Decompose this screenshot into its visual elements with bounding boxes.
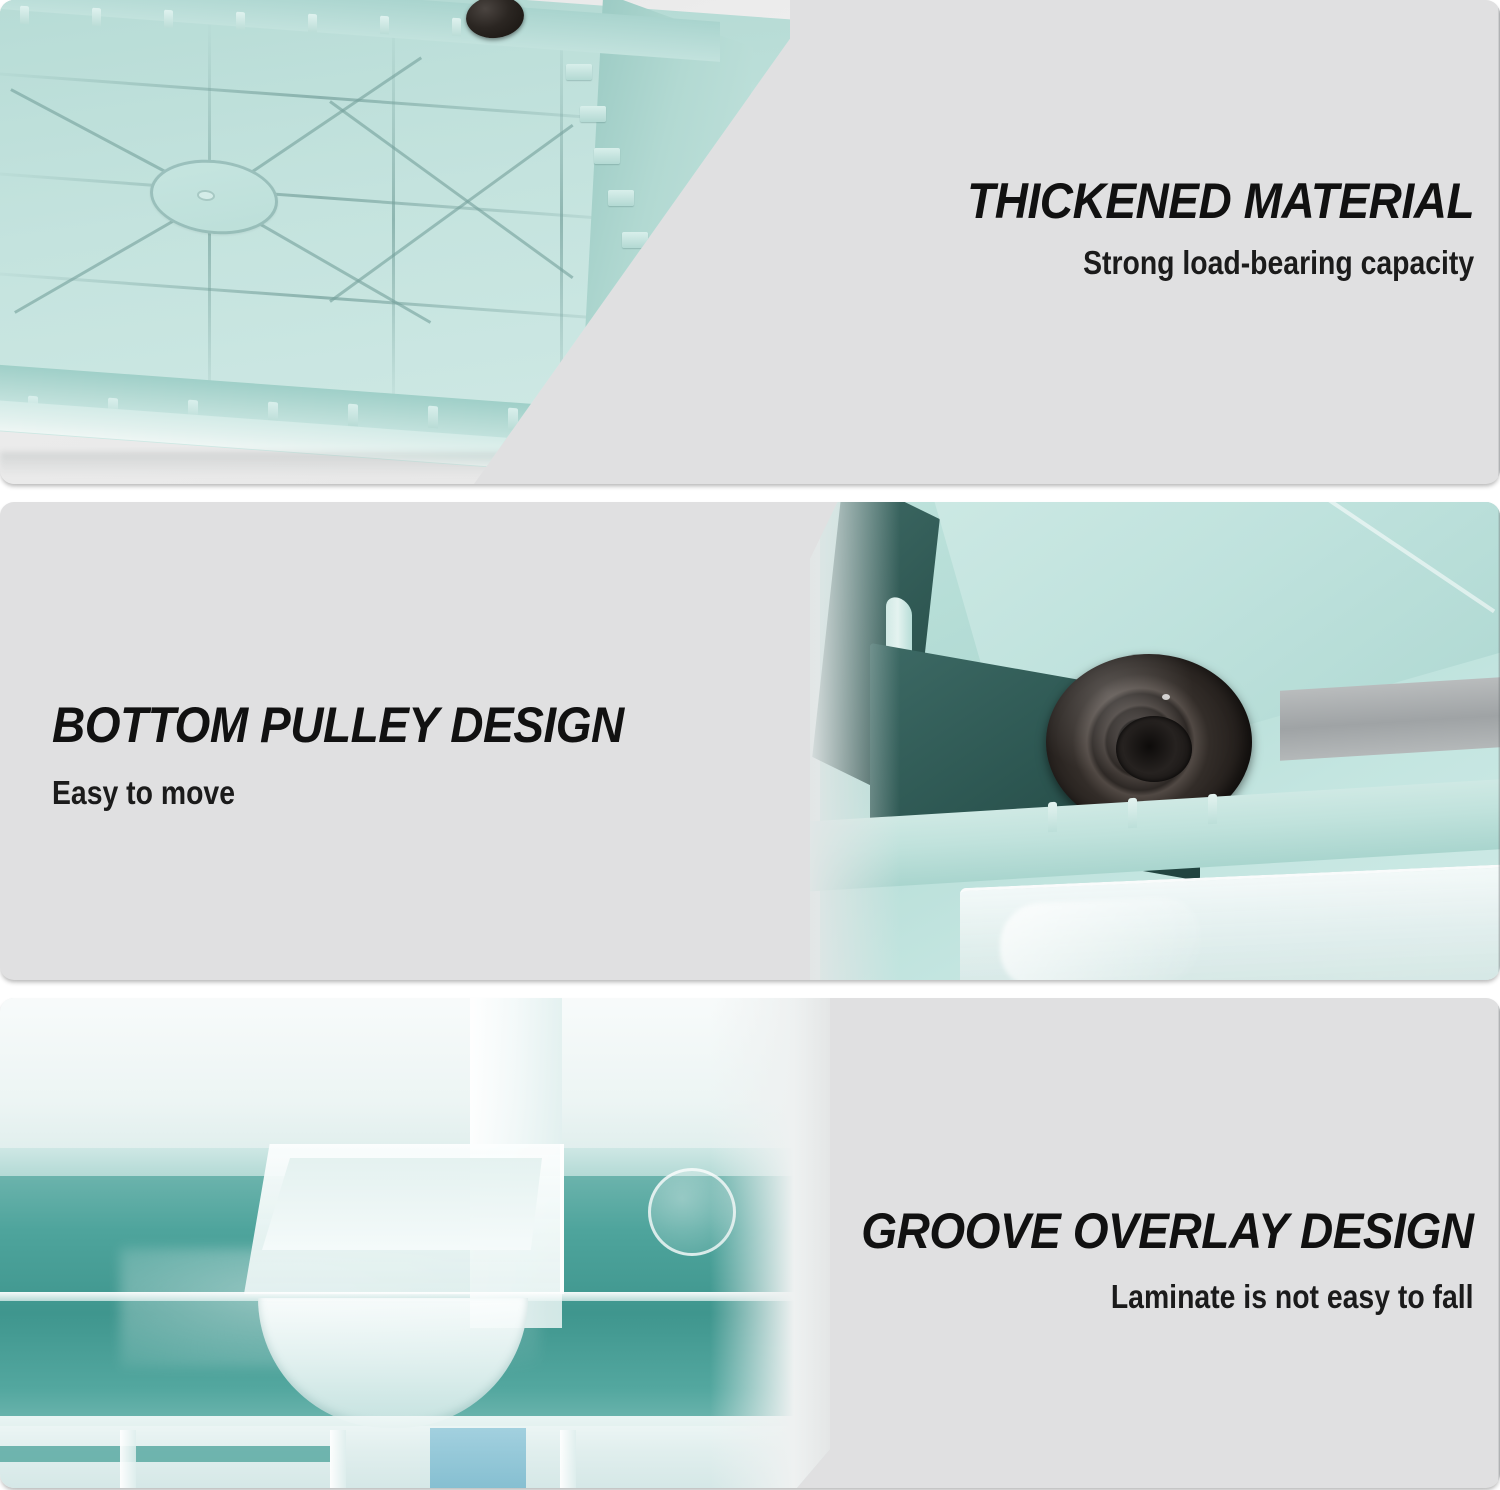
feature-heading: GROOVE OVERLAY DESIGN xyxy=(862,1206,1474,1256)
rib-tooth xyxy=(650,316,676,332)
feature-text-bottom-pulley-design: BOTTOM PULLEY DESIGN Easy to move xyxy=(52,700,674,809)
caster-wheel-specular xyxy=(1162,694,1170,700)
product-photo-caster-closeup xyxy=(810,502,1500,980)
rib-tooth xyxy=(594,148,620,164)
feature-panel-groove-overlay-design: GROOVE OVERLAY DESIGN Laminate is not ea… xyxy=(0,998,1500,1488)
grey-label-patch xyxy=(1280,677,1500,760)
rib-tooth xyxy=(636,274,662,290)
rib-vertical xyxy=(560,20,563,420)
rail-tooth xyxy=(164,10,173,29)
rib-tooth xyxy=(580,106,606,122)
lower-divider-post xyxy=(330,1430,346,1488)
rail-tooth xyxy=(588,410,598,433)
rib-tooth xyxy=(566,64,592,80)
feature-subheading: Easy to move xyxy=(52,776,587,809)
feature-text-thickened-material: THICKENED MATERIAL Strong load-bearing c… xyxy=(923,176,1474,279)
product-drop-shadow xyxy=(0,452,760,476)
rib-tooth xyxy=(622,232,648,248)
rail-tooth xyxy=(428,406,438,429)
feature-heading: BOTTOM PULLEY DESIGN xyxy=(52,700,624,750)
infographic-sheet: THICKENED MATERIAL Strong load-bearing c… xyxy=(0,0,1500,1490)
lower-blue-panel xyxy=(430,1428,526,1488)
product-photo-groove-closeup xyxy=(0,998,830,1488)
rail-tooth xyxy=(236,12,245,31)
feature-panel-bottom-pulley-design: BOTTOM PULLEY DESIGN Easy to move xyxy=(0,502,1500,980)
drawer-sheen xyxy=(1000,896,1200,980)
feature-subheading: Laminate is not easy to fall xyxy=(902,1280,1474,1313)
feature-text-groove-overlay-design: GROOVE OVERLAY DESIGN Laminate is not ea… xyxy=(808,1206,1474,1313)
photo-edge-fade xyxy=(810,502,900,980)
rail-tooth xyxy=(92,8,101,27)
groove-notch-inner xyxy=(262,1158,542,1250)
rail-tooth xyxy=(20,6,29,25)
lip-nub xyxy=(1128,798,1137,829)
caster-wheel-hub xyxy=(1116,716,1192,782)
lower-divider-post xyxy=(120,1430,136,1488)
rail-tooth xyxy=(308,14,317,33)
caster-wheel-icon xyxy=(646,381,715,435)
rail-tooth xyxy=(508,408,518,431)
rail-tooth xyxy=(452,18,461,37)
rail-tooth xyxy=(380,16,389,35)
rail-tooth xyxy=(348,404,358,427)
rib-tooth xyxy=(664,358,690,374)
lip-nub xyxy=(1048,802,1057,833)
feature-heading: THICKENED MATERIAL xyxy=(967,176,1474,226)
rib-comb-wall xyxy=(581,0,754,469)
feature-subheading: Strong load-bearing capacity xyxy=(1000,246,1474,279)
rib-vertical xyxy=(392,20,395,420)
lower-divider-post xyxy=(560,1430,576,1488)
product-photo-box-underside xyxy=(0,0,790,484)
feature-panel-thickened-material: THICKENED MATERIAL Strong load-bearing c… xyxy=(0,0,1500,484)
lip-nub xyxy=(1208,794,1217,825)
lower-teal-strip xyxy=(0,1446,330,1462)
rib-tooth xyxy=(608,190,634,206)
